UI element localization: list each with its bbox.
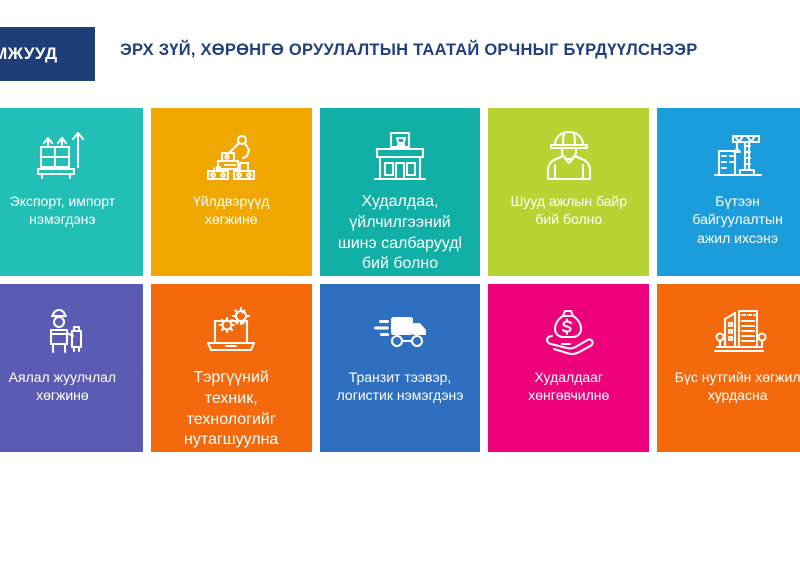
benefit-card[interactable]: Худалдаа, үйлчилгээний шинэ салбаруудl б… <box>320 108 481 276</box>
benefit-card-label: Шууд ажлын байр бий болно <box>507 192 632 229</box>
traveler-suitcase-icon <box>30 302 94 360</box>
page-header: ОМЖУУД ЭРХ ЗҮЙ, ХӨРӨНГӨ ОРУУЛАЛТЫН ТААТА… <box>0 0 800 100</box>
benefit-card[interactable]: Бүс нутгийн хөгжил хурдасна <box>657 284 800 452</box>
benefit-card[interactable]: Транзит тээвэр, логистик нэмэгдэнэ <box>320 284 481 452</box>
page-title: ЭРХ ЗҮЙ, ХӨРӨНГӨ ОРУУЛАЛТЫН ТААТАЙ ОРЧНЫ… <box>120 41 698 60</box>
header-badge-label: ОМЖУУД <box>0 44 57 64</box>
benefit-card-label: Бүс нутгийн хөгжил хурдасна <box>671 368 800 405</box>
benefit-card[interactable]: Бүтээн байгуулалтын ажил ихсэнэ <box>657 108 800 276</box>
benefit-card[interactable]: Үйлдвэрүүд хөгжинө <box>151 108 312 276</box>
header-badge: ОМЖУУД <box>0 27 95 81</box>
benefit-card-label: Экспорт, импорт нэмэгдэнэ <box>6 192 120 229</box>
benefit-card[interactable]: Аялал жуулчлал хөгжинө <box>0 284 143 452</box>
benefit-card[interactable]: Тэргүүний техник, технологийг нутагшуулн… <box>151 284 312 452</box>
benefit-card-label: Бүтээн байгуулалтын ажил ихсэнэ <box>667 192 800 247</box>
benefit-card-label: Транзит тээвэр, логистик нэмэгдэнэ <box>333 368 468 405</box>
benefit-card[interactable]: Шууд ажлын байр бий болно <box>488 108 649 276</box>
delivery-truck-icon <box>368 302 432 360</box>
worker-hardhat-icon <box>537 126 601 184</box>
benefit-card-label: Худалдаа, үйлчилгээний шинэ салбаруудl б… <box>334 192 466 275</box>
benefit-card-label: Тэргүүний техник, технологийг нутагшуулн… <box>180 368 282 451</box>
factory-robot-arm-icon <box>199 126 263 184</box>
benefit-card-label: Үйлдвэрүүд хөгжинө <box>161 192 302 229</box>
hand-money-bag-icon <box>537 302 601 360</box>
benefit-card-label: Худалдааг хөнгөвчилнө <box>524 368 613 405</box>
pallet-boxes-arrows-icon <box>30 126 94 184</box>
benefits-card-grid: Экспорт, импорт нэмэгдэнэ Үйлдвэрүүд хөг… <box>0 108 800 452</box>
storefront-cart-icon <box>368 126 432 184</box>
benefit-card[interactable]: Экспорт, импорт нэмэгдэнэ <box>0 108 143 276</box>
crane-building-icon <box>706 126 770 184</box>
benefit-card-label: Аялал жуулчлал хөгжинө <box>5 368 120 405</box>
benefit-card[interactable]: Худалдааг хөнгөвчилнө <box>488 284 649 452</box>
laptop-gears-icon <box>199 302 263 360</box>
city-buildings-icon <box>706 302 770 360</box>
